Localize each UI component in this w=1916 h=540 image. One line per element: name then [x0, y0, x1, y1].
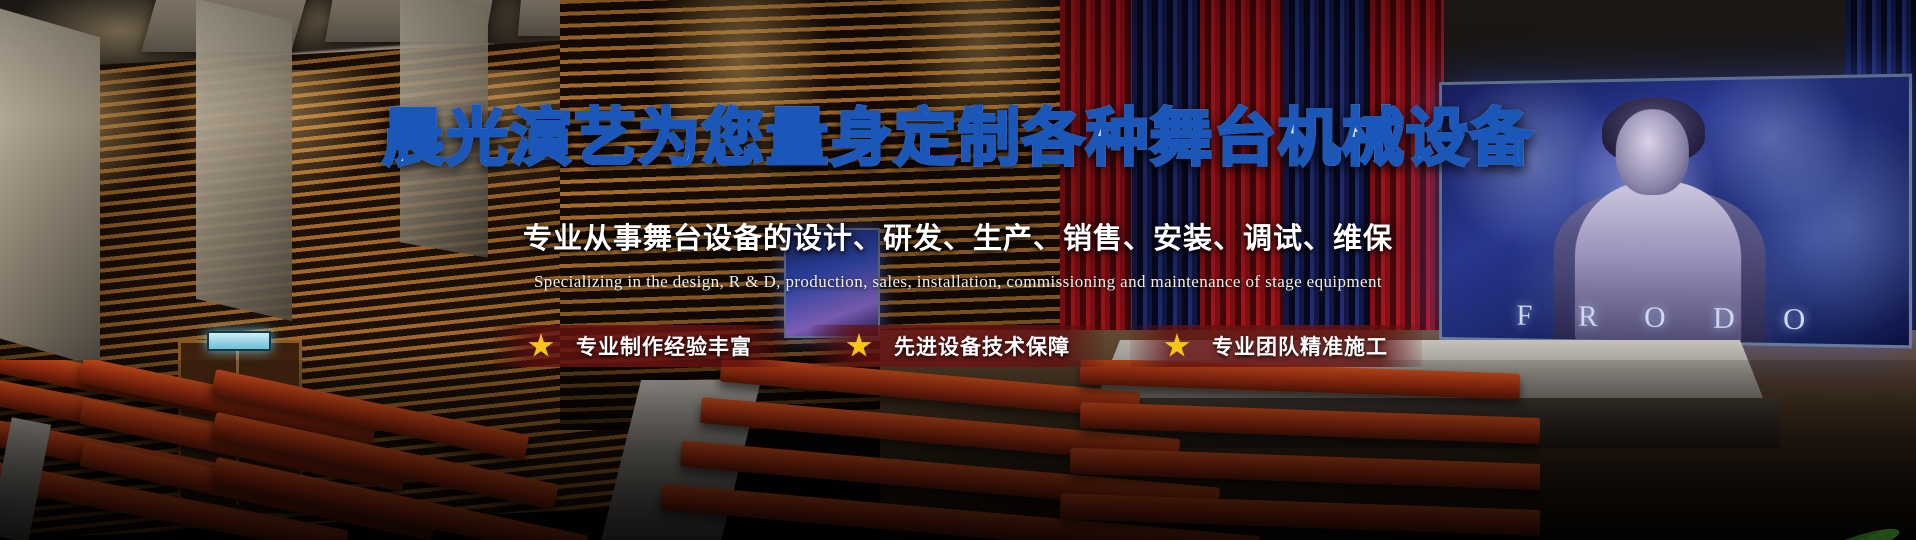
- star-icon: [528, 333, 554, 359]
- banner-english-tagline: Specializing in the design, R & D, produ…: [0, 272, 1916, 292]
- feature-badge-1: 专业制作经验丰富: [494, 325, 786, 367]
- banner-content: 晨光演艺为您量身定制各种舞台机械设备 专业从事舞台设备的设计、研发、生产、销售、…: [0, 0, 1916, 540]
- hero-banner: F R O D O: [0, 0, 1916, 540]
- feature-badge-2-label: 先进设备技术保障: [894, 331, 1070, 361]
- feature-badge-1-label: 专业制作经验丰富: [576, 331, 752, 361]
- feature-badge-3-label: 专业团队精准施工: [1212, 331, 1388, 361]
- star-icon: [846, 333, 872, 359]
- feature-badge-list: 专业制作经验丰富 先进设备技术保障 专业团队精准施工: [0, 325, 1916, 367]
- banner-headline: 晨光演艺为您量身定制各种舞台机械设备: [0, 104, 1916, 172]
- feature-badge-3: 专业团队精准施工: [1130, 325, 1422, 367]
- banner-subheadline: 专业从事舞台设备的设计、研发、生产、销售、安装、调试、维保: [0, 215, 1916, 257]
- star-icon: [1164, 333, 1190, 359]
- feature-badge-2: 先进设备技术保障: [812, 325, 1104, 367]
